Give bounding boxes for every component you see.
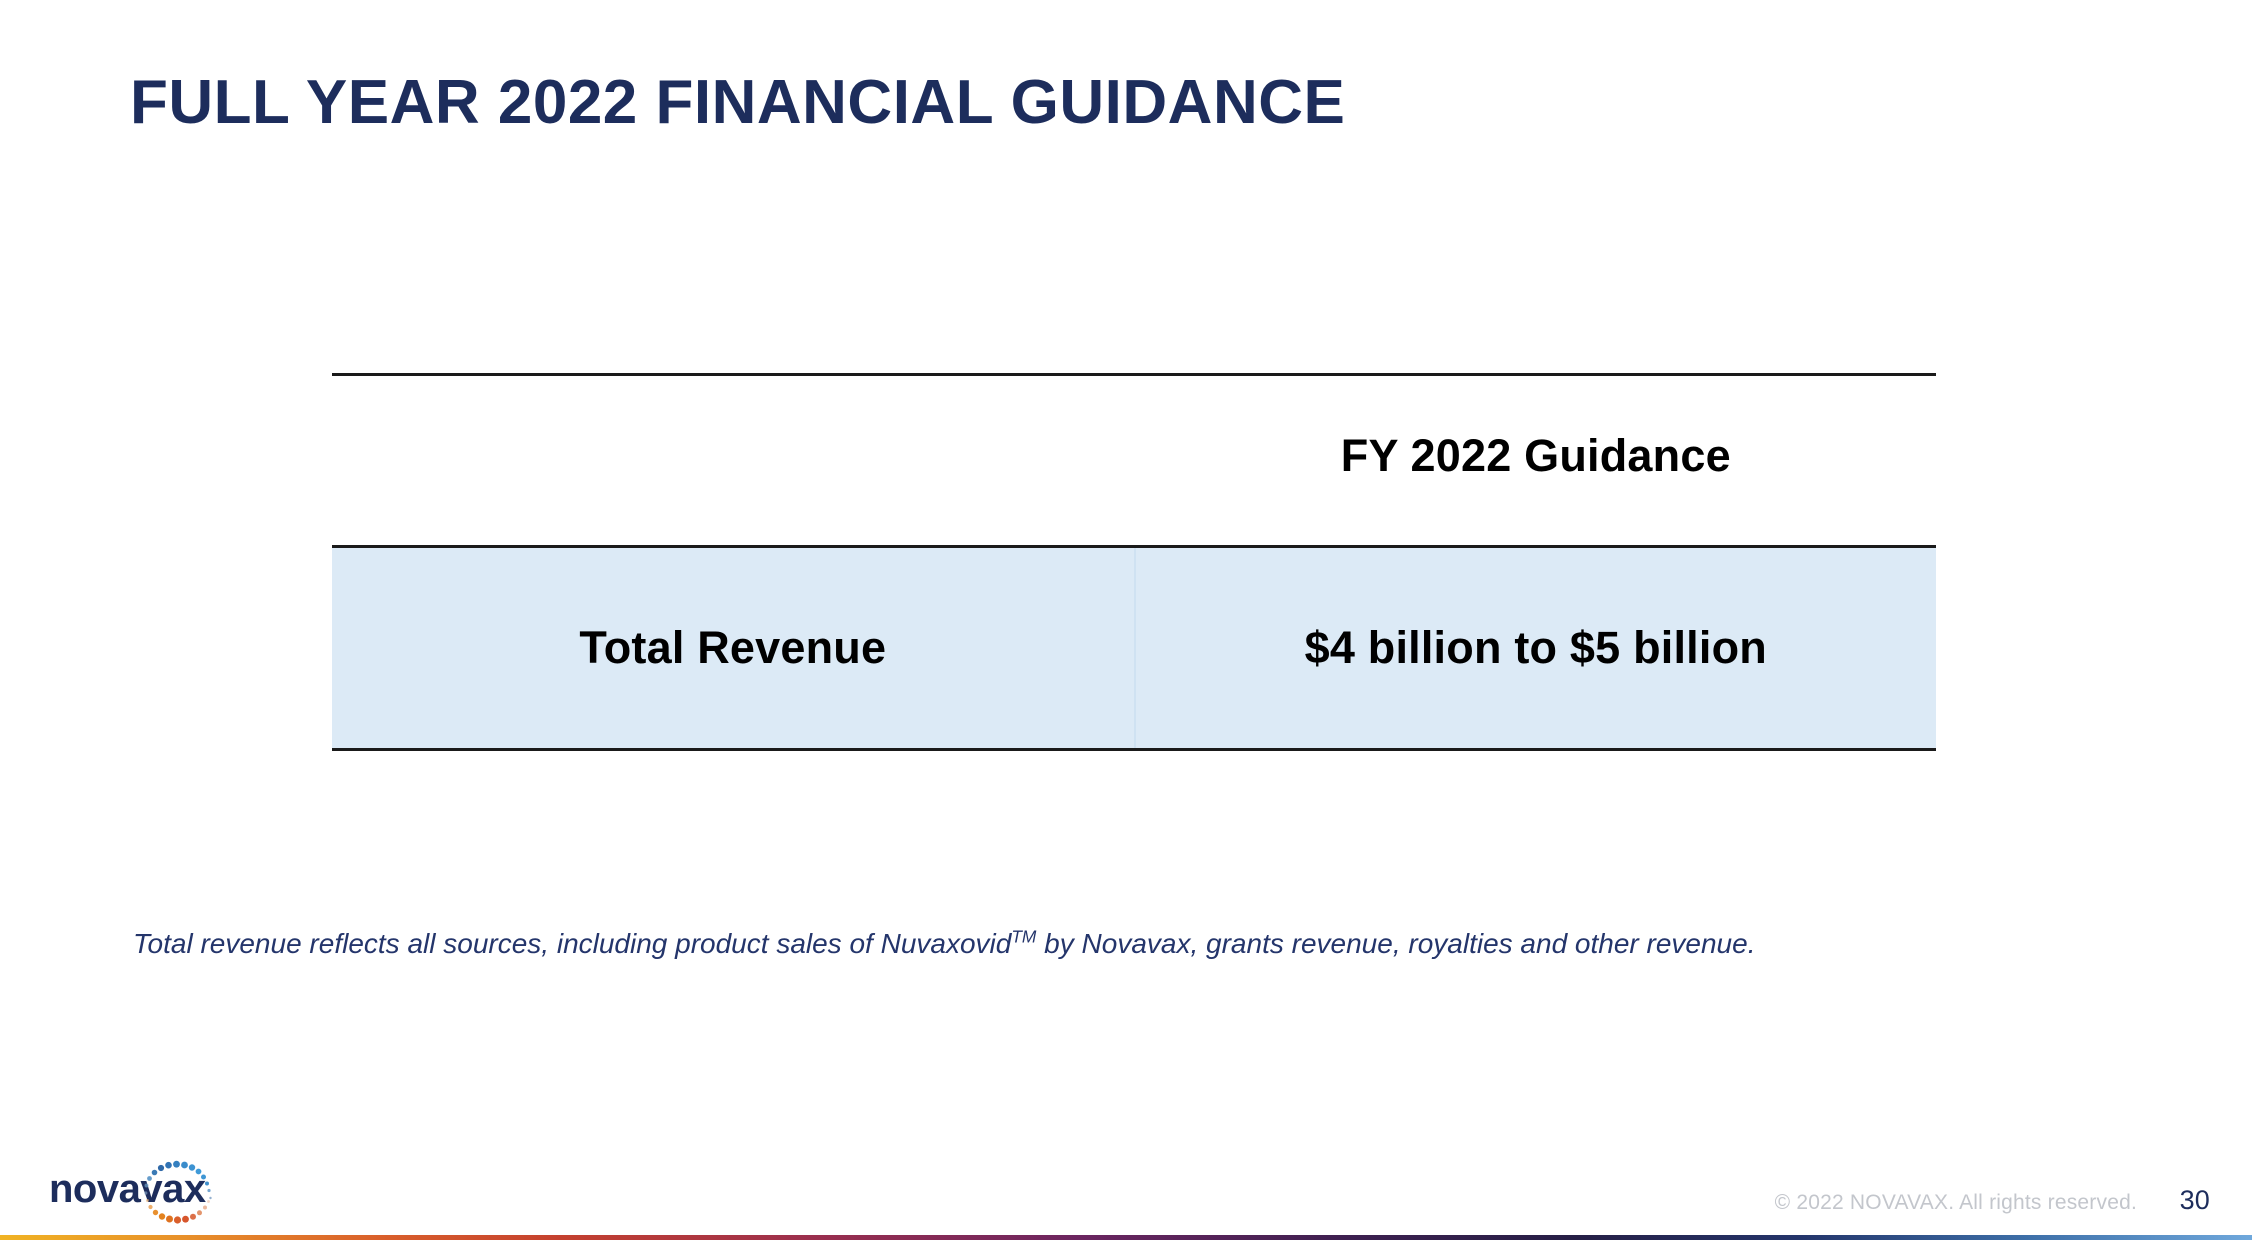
guidance-table: FY 2022 Guidance Total Revenue $4 billio… [332, 373, 1936, 751]
trademark-superscript: TM [1011, 927, 1036, 947]
table-header-row: FY 2022 Guidance [332, 376, 1936, 545]
table-row: Total Revenue $4 billion to $5 billion [332, 548, 1936, 748]
total-revenue-value: $4 billion to $5 billion [1305, 622, 1767, 674]
table-cell-metric-label: Total Revenue [332, 548, 1136, 748]
table-cell-metric-value: $4 billion to $5 billion [1136, 548, 1936, 748]
copyright-text: © 2022 NOVAVAX. All rights reserved. [1775, 1191, 2137, 1215]
total-revenue-label: Total Revenue [579, 622, 886, 674]
slide-canvas: Full Year 2022 Financial Guidance FY 202… [0, 0, 2252, 1240]
novavax-logo: novavax [48, 1155, 258, 1230]
page-number: 30 [2180, 1185, 2210, 1216]
table-header-cell-blank [332, 376, 1136, 545]
novavax-logo-icon: novavax [48, 1155, 258, 1230]
svg-text:novavax: novavax [49, 1167, 206, 1211]
table-bottom-rule [332, 748, 1936, 751]
table-header-cell-fy2022-guidance: FY 2022 Guidance [1136, 376, 1936, 545]
footnote-text-part2: by Novavax, grants revenue, royalties an… [1036, 928, 1755, 959]
accent-gradient-bar [0, 1235, 2252, 1240]
page-title: Full Year 2022 Financial Guidance [130, 68, 1830, 137]
footnote-text-part1: Total revenue reflects all sources, incl… [133, 928, 1011, 959]
footnote: Total revenue reflects all sources, incl… [133, 925, 2133, 963]
